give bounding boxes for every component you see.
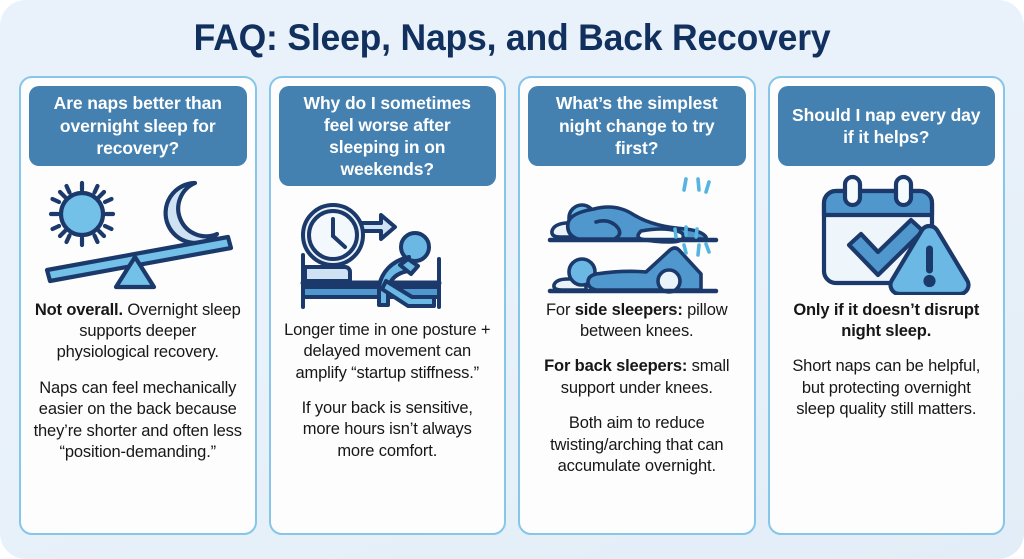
faq-answer-1: Not overall. Overnight sleep supports de… xyxy=(29,300,247,523)
faq-question-1: Are naps better than overnight sleep for… xyxy=(29,86,247,166)
answer-text: Naps can feel mechanically easier on the… xyxy=(34,379,242,461)
faq-card-sleeping-in-weekends: Why do I sometimes feel worse after slee… xyxy=(269,76,507,535)
answer-emphasis: Only if it doesn’t disrupt night sleep. xyxy=(793,301,979,340)
faq-card-nap-every-day: Should I nap every day if it helps? xyxy=(768,76,1006,535)
faq-answer-3: For side sleepers: pillow between knees.… xyxy=(528,300,746,523)
answer-paragraph: Short naps can be helpful, but protectin… xyxy=(782,356,992,420)
faq-card-simplest-night-change: What’s the simplest night change to try … xyxy=(518,76,756,535)
answer-text: Short naps can be helpful, but protectin… xyxy=(792,357,980,418)
sun-moon-balance-icon xyxy=(29,174,247,294)
answer-paragraph: Only if it doesn’t disrupt night sleep. xyxy=(782,300,992,343)
faq-question-4: Should I nap every day if it helps? xyxy=(778,86,996,166)
faq-question-2: Why do I sometimes feel worse after slee… xyxy=(279,86,497,186)
faq-card-naps-vs-overnight: Are naps better than overnight sleep for… xyxy=(19,76,257,535)
faq-infographic: FAQ: Sleep, Naps, and Back Recovery Are … xyxy=(0,0,1024,559)
answer-text: Longer time in one posture + delayed mov… xyxy=(284,321,490,382)
clock-bed-tired-person-icon xyxy=(279,194,497,314)
page-title: FAQ: Sleep, Naps, and Back Recovery xyxy=(20,17,1003,60)
faq-card-row: Are naps better than overnight sleep for… xyxy=(0,60,1024,559)
answer-emphasis: side sleepers: xyxy=(575,301,683,319)
answer-paragraph: Longer time in one posture + delayed mov… xyxy=(283,320,493,384)
answer-paragraph: Naps can feel mechanically easier on the… xyxy=(33,378,243,464)
answer-paragraph: If your back is sensitive, more hours is… xyxy=(283,398,493,462)
faq-answer-2: Longer time in one posture + delayed mov… xyxy=(279,320,497,523)
faq-answer-4: Only if it doesn’t disrupt night sleep.S… xyxy=(778,300,996,523)
answer-paragraph: Not overall. Overnight sleep supports de… xyxy=(33,300,243,364)
answer-text: For xyxy=(546,301,575,319)
faq-question-3: What’s the simplest night change to try … xyxy=(528,86,746,166)
answer-text: If your back is sensitive, more hours is… xyxy=(302,399,473,460)
answer-emphasis: Not overall. xyxy=(35,301,123,319)
calendar-check-warning-icon xyxy=(778,174,996,294)
side-and-back-sleeper-pillow-icon xyxy=(528,174,746,294)
answer-paragraph: For back sleepers: small support under k… xyxy=(532,356,742,399)
answer-text: Both aim to reduce twisting/arching that… xyxy=(550,414,723,475)
answer-paragraph: For side sleepers: pillow between knees. xyxy=(532,300,742,343)
answer-paragraph: Both aim to reduce twisting/arching that… xyxy=(532,413,742,477)
answer-emphasis: For back sleepers: xyxy=(544,357,687,375)
